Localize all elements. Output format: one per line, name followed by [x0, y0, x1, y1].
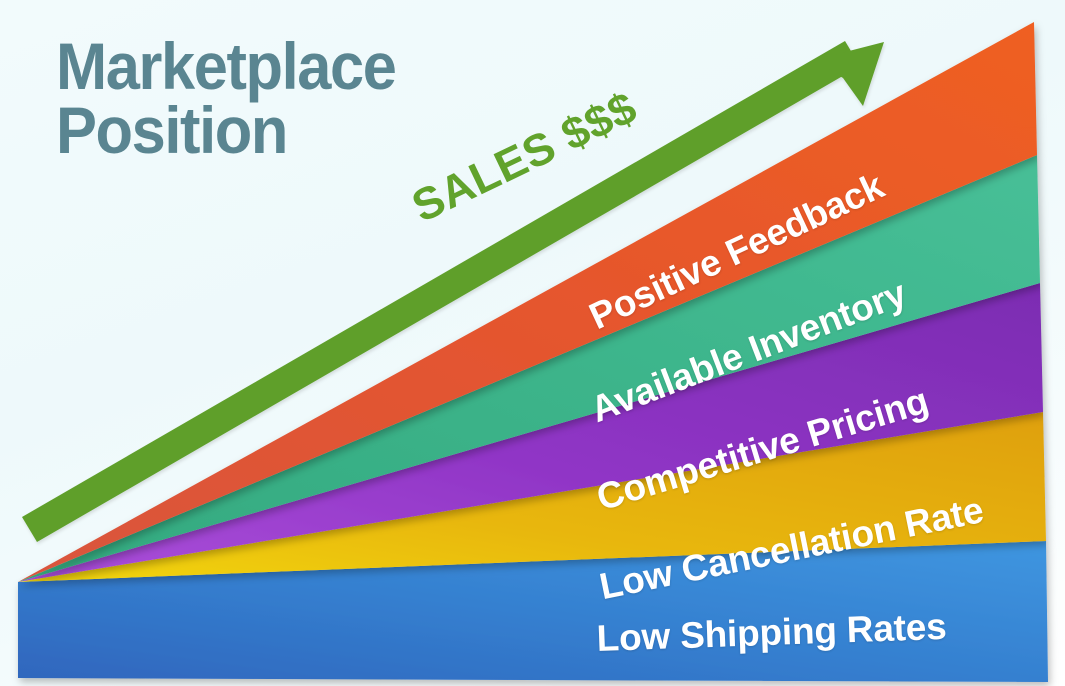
infographic-canvas: Marketplace Position SALES $$$ Positive … — [0, 0, 1065, 686]
page-title-line-1: Marketplace — [56, 34, 395, 98]
page-title-line-2: Position — [56, 98, 395, 162]
page-title: Marketplace Position — [56, 34, 395, 162]
